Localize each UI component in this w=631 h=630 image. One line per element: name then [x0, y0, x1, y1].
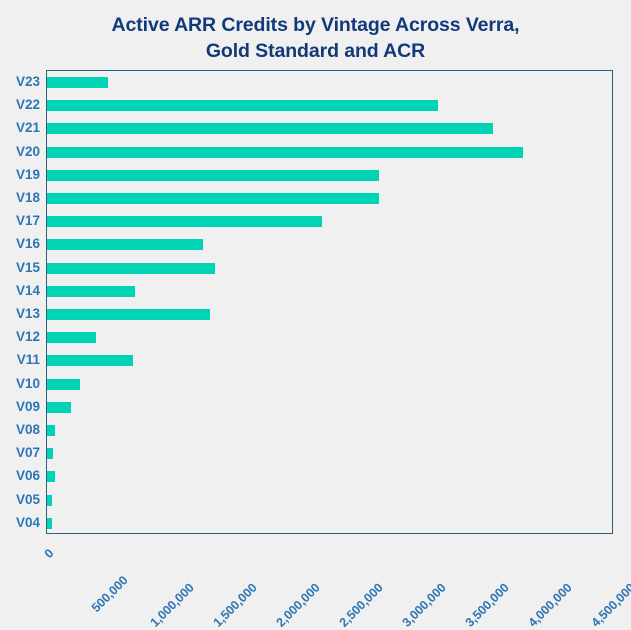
chart-title-line-2: Gold Standard and ACR [0, 38, 631, 64]
y-axis-tick-label-v04: V04 [2, 511, 40, 534]
y-axis-tick-label-v06: V06 [2, 464, 40, 487]
y-axis-tick-label-v05: V05 [2, 488, 40, 511]
chart-title-line-1: Active ARR Credits by Vintage Across Ver… [0, 12, 631, 38]
x-axis-tick-label-3: 1,500,000 [250, 541, 299, 590]
x-axis-tick-label-8: 4,000,000 [565, 541, 614, 590]
chart-container: Active ARR Credits by Vintage Across Ver… [0, 0, 631, 610]
x-axis-tick-label-6: 3,000,000 [439, 541, 488, 590]
y-axis-tick-label-v19: V19 [2, 163, 40, 186]
y-axis-labels: V23V22V21V20V19V18V17V16V15V14V13V12V11V… [46, 70, 613, 534]
chart-title: Active ARR Credits by Vintage Across Ver… [0, 12, 631, 64]
y-axis-tick-label-v23: V23 [2, 70, 40, 93]
x-axis-tick-label-4: 2,000,000 [313, 541, 362, 590]
y-axis-tick-label-v09: V09 [2, 395, 40, 418]
y-axis-tick-label-v21: V21 [2, 116, 40, 139]
y-axis-tick-label-v08: V08 [2, 418, 40, 441]
y-axis-tick-label-v07: V07 [2, 441, 40, 464]
y-axis-tick-label-v11: V11 [2, 348, 40, 371]
y-axis-tick-label-v15: V15 [2, 256, 40, 279]
y-axis-tick-label-v20: V20 [2, 140, 40, 163]
y-axis-tick-label-v13: V13 [2, 302, 40, 325]
x-axis-labels: 0500,0001,000,0001,500,0002,000,0002,500… [46, 537, 613, 607]
y-axis-tick-label-v16: V16 [2, 232, 40, 255]
x-axis-tick-label-0: 0 [47, 541, 62, 556]
x-axis-tick-label-7: 3,500,000 [502, 541, 551, 590]
x-axis-tick-label-5: 2,500,000 [376, 541, 425, 590]
y-axis-tick-label-v22: V22 [2, 93, 40, 116]
y-axis-tick-label-v17: V17 [2, 209, 40, 232]
x-axis-tick-label-2: 1,000,000 [187, 541, 236, 590]
y-axis-tick-label-v18: V18 [2, 186, 40, 209]
x-axis-tick-label-1: 500,000 [121, 541, 163, 583]
y-axis-tick-label-v10: V10 [2, 372, 40, 395]
y-axis-tick-label-v14: V14 [2, 279, 40, 302]
y-axis-tick-label-v12: V12 [2, 325, 40, 348]
